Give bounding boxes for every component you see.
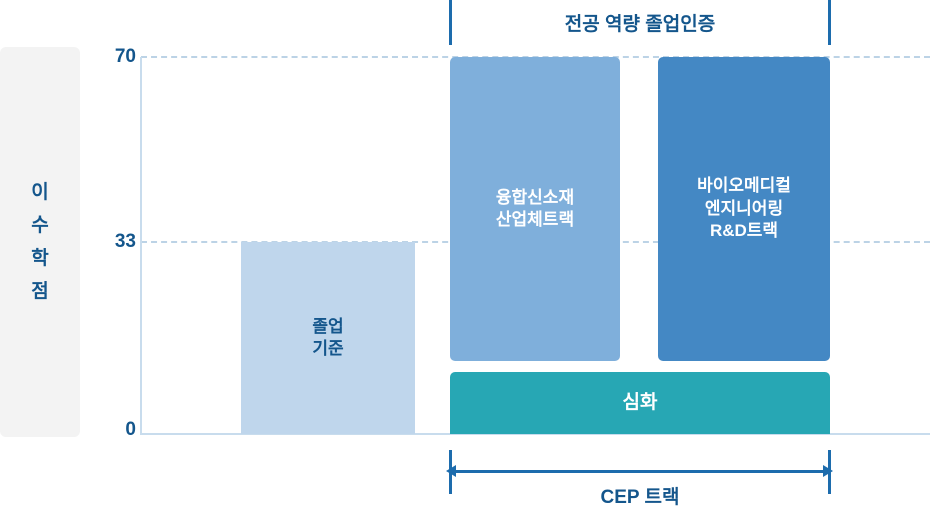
bar-biomedical-engineering-track: 바이오메디컬 엔지니어링 R&D트랙 bbox=[658, 57, 830, 361]
cep-range-arrow-line bbox=[452, 470, 828, 473]
y-axis-title-char-2: 수 bbox=[31, 216, 48, 235]
credit-requirement-bar-chart: 전공 역량 졸업인증 이 수 학 점 70 33 0 졸업 기준 융합신소재 산… bbox=[0, 0, 930, 515]
bar-biomedical-engineering-track-label: 바이오메디컬 엔지니어링 R&D트랙 bbox=[697, 175, 791, 242]
y-axis-title-panel: 이 수 학 점 bbox=[0, 47, 80, 437]
top-annotation: 전공 역량 졸업인증 bbox=[450, 0, 830, 45]
bar-advanced-deep-label: 심화 bbox=[623, 390, 658, 415]
y-tick-0: 0 bbox=[88, 420, 136, 439]
y-axis-line bbox=[140, 57, 142, 434]
bar-convergence-materials-track-label: 융합신소재 산업체트랙 bbox=[496, 187, 574, 232]
bar-graduation-standard: 졸업 기준 bbox=[241, 242, 415, 434]
top-annotation-caption: 전공 역량 졸업인증 bbox=[565, 9, 715, 36]
bottom-annotation-caption: CEP 트랙 bbox=[450, 482, 830, 509]
bar-graduation-standard-label: 졸업 기준 bbox=[312, 316, 343, 361]
bar-advanced-deep: 심화 bbox=[450, 372, 830, 434]
y-tick-33: 33 bbox=[88, 232, 136, 251]
y-axis-title-char-3: 학 bbox=[31, 249, 48, 268]
arrow-left-icon bbox=[446, 465, 456, 477]
y-axis-title-char-1: 이 bbox=[31, 183, 48, 202]
y-tick-70: 70 bbox=[88, 47, 136, 66]
arrow-right-icon bbox=[823, 465, 833, 477]
y-axis-title-char-4: 점 bbox=[31, 282, 48, 301]
bar-convergence-materials-track: 융합신소재 산업체트랙 bbox=[450, 57, 620, 361]
